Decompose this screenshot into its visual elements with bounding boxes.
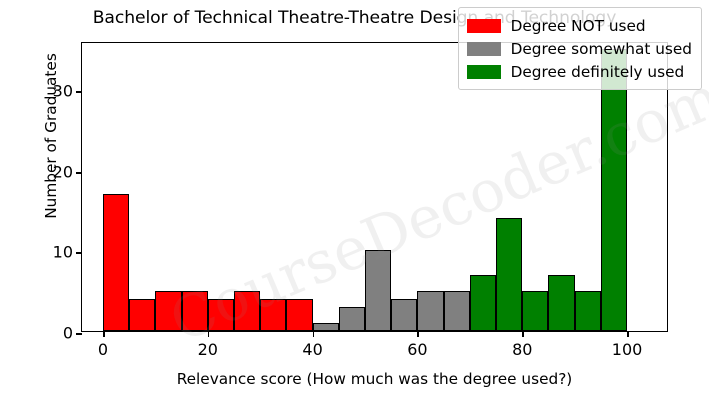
histogram-bar <box>365 250 391 331</box>
x-tick-mark <box>208 331 210 337</box>
histogram-bar <box>260 299 286 331</box>
y-tick-mark <box>76 172 82 174</box>
histogram-bar <box>575 291 601 331</box>
y-tick-mark <box>76 91 82 93</box>
legend-color-swatch <box>467 19 501 33</box>
chart-figure: Bachelor of Technical Theatre-Theatre De… <box>0 0 709 408</box>
y-tick-mark <box>76 252 82 254</box>
histogram-bar <box>470 275 496 331</box>
legend-label: Degree somewhat used <box>511 40 692 58</box>
legend-item[interactable]: Degree somewhat used <box>467 37 692 60</box>
histogram-bar <box>103 194 129 331</box>
x-tick-label: 20 <box>198 340 218 359</box>
histogram-bar <box>601 49 627 331</box>
y-tick-label: 10 <box>53 243 73 262</box>
histogram-bar <box>417 291 443 331</box>
x-tick-label: 60 <box>407 340 427 359</box>
legend-item[interactable]: Degree definitely used <box>467 60 692 83</box>
legend-label: Degree definitely used <box>511 63 685 81</box>
histogram-bar <box>339 307 365 331</box>
x-tick-label: 40 <box>302 340 322 359</box>
x-tick-label: 0 <box>98 340 108 359</box>
histogram-bar <box>313 323 339 331</box>
histogram-bar <box>548 275 574 331</box>
chart-legend: Degree NOT usedDegree somewhat usedDegre… <box>458 7 702 90</box>
legend-label: Degree NOT used <box>511 17 646 35</box>
x-tick-mark <box>627 331 629 337</box>
histogram-bar <box>286 299 312 331</box>
legend-item[interactable]: Degree NOT used <box>467 14 692 37</box>
histogram-bar <box>522 291 548 331</box>
legend-color-swatch <box>467 65 501 79</box>
x-axis-label: Relevance score (How much was the degree… <box>81 370 668 388</box>
x-tick-mark <box>522 331 524 337</box>
histogram-bar <box>496 218 522 331</box>
y-tick-label: 0 <box>63 324 73 343</box>
x-tick-label: 100 <box>612 340 643 359</box>
y-tick-label: 20 <box>53 162 73 181</box>
histogram-bar <box>182 291 208 331</box>
histogram-bar <box>155 291 181 331</box>
y-tick-mark <box>76 333 82 335</box>
histogram-bar <box>129 299 155 331</box>
y-axis-label: Number of Graduates <box>42 0 60 281</box>
x-tick-mark <box>417 331 419 337</box>
histogram-bar <box>444 291 470 331</box>
histogram-bar <box>234 291 260 331</box>
histogram-bar <box>391 299 417 331</box>
y-tick-label: 30 <box>53 82 73 101</box>
legend-color-swatch <box>467 42 501 56</box>
histogram-bar <box>208 299 234 331</box>
x-tick-mark <box>313 331 315 337</box>
x-tick-label: 80 <box>512 340 532 359</box>
x-tick-mark <box>103 331 105 337</box>
